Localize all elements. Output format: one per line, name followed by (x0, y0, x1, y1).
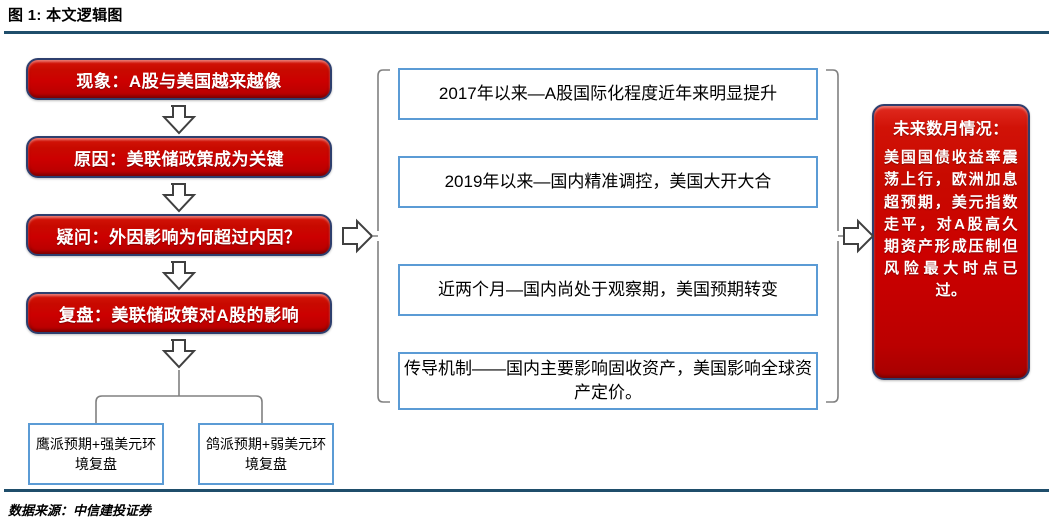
flow-step-review[interactable]: 复盘：美联储政策对A股的影响 (26, 292, 332, 334)
flow-step-reason[interactable]: 原因：美联储政策成为关键 (26, 136, 332, 178)
flow-step-question[interactable]: 疑问：外因影响为何超过内因？ (26, 214, 332, 256)
source-note: 数据来源：中信建投证券 (8, 500, 151, 519)
brace-left-icon (372, 70, 390, 402)
title-divider (4, 31, 1049, 34)
leaf-box-hawkish[interactable]: 鹰派预期+强美元环境复盘 (28, 423, 164, 485)
evidence-box-4[interactable]: 传导机制——国内主要影响固收资产，美国影响全球资产定价。 (398, 352, 818, 410)
arrow-down-icon-1 (164, 106, 194, 133)
arrow-down-icon-2 (164, 184, 194, 211)
evidence-box-1[interactable]: 2017年以来—A股国际化程度近年来明显提升 (398, 68, 818, 120)
arrow-down-icon-4 (164, 340, 194, 367)
outlook-title: 未来数月情况： (893, 118, 1009, 141)
outlook-summary-box[interactable]: 未来数月情况： 美国国债收益率震荡上行，欧洲加息超预期，美元指数走平，对A股高久… (872, 104, 1030, 380)
flow-step-phenomenon[interactable]: 现象：A股与美国越来越像 (26, 58, 332, 100)
leaf-box-dovish[interactable]: 鸽派预期+弱美元环境复盘 (198, 423, 334, 485)
evidence-box-3[interactable]: 近两个月—国内尚处于观察期，美国预期转变 (398, 264, 818, 316)
arrow-right-icon-right (844, 221, 873, 251)
page-title: 图 1: 本文逻辑图 (8, 4, 123, 25)
tree-split-connector (96, 370, 262, 423)
arrow-down-icon-3 (164, 262, 194, 289)
arrow-right-icon-left (343, 221, 372, 251)
brace-right-icon (826, 70, 844, 402)
outlook-body: 美国国债收益率震荡上行，欧洲加息超预期，美元指数走平，对A股高久期资产形成压制但… (884, 147, 1018, 302)
evidence-box-2[interactable]: 2019年以来—国内精准调控，美国大开大合 (398, 156, 818, 208)
footer-divider (4, 489, 1049, 492)
